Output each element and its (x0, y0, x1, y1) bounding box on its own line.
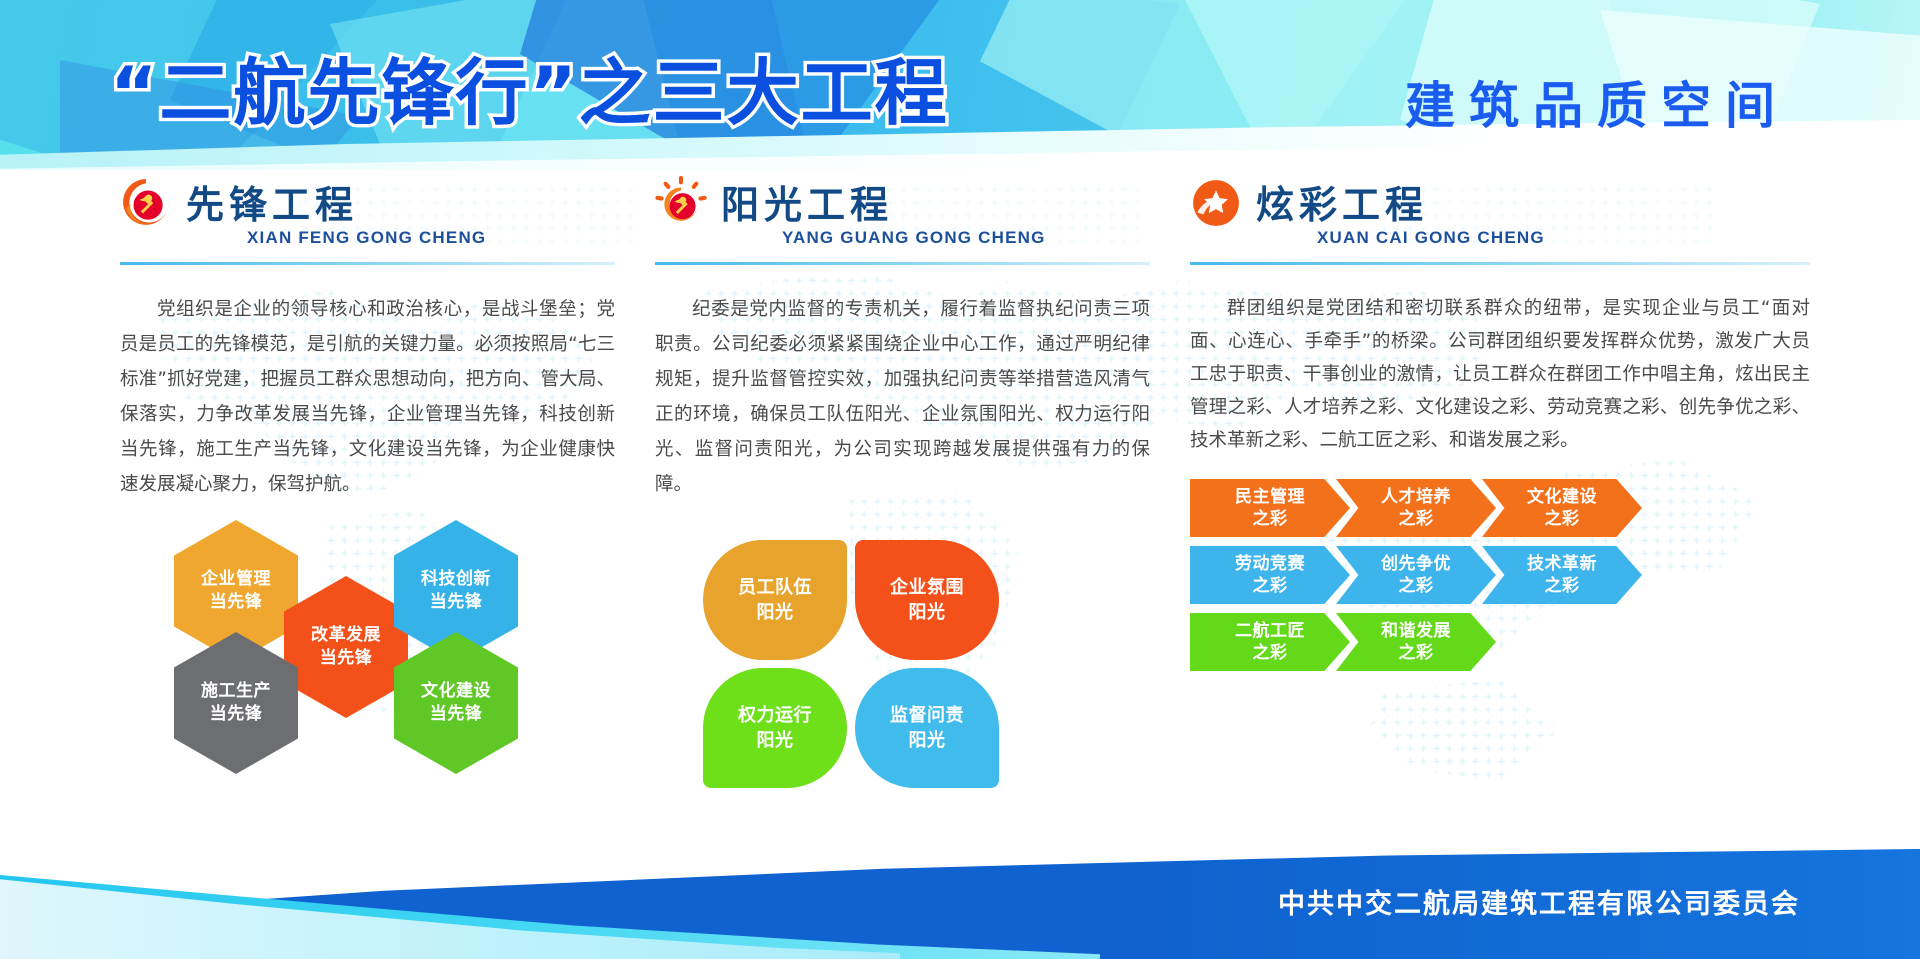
arrow-line-1: 人才培养 (1381, 486, 1451, 508)
hexagon-line-2: 当先锋 (201, 591, 271, 614)
section-xuancai: 炫彩工程 XUAN CAI GONG CHENG 群团组织是党团结和密切联系群众… (1190, 170, 1810, 680)
section-pinyin: XUAN CAI GONG CHENG (1317, 228, 1545, 248)
section-divider (1190, 262, 1810, 265)
arrow-row: 二航工匠 之彩 和谐发展 之彩 (1190, 613, 1810, 671)
section-title: 先锋工程 (186, 174, 358, 229)
arrow-line-2: 之彩 (1381, 642, 1451, 664)
section-header: 先锋工程 XIAN FENG GONG CHENG (120, 170, 615, 278)
party-sun-emblem-icon (655, 176, 707, 228)
section-yangguang: 阳光工程 YANG GUANG GONG CHENG 纪委是党内监督的专责机关，… (655, 170, 1150, 790)
section-xianfeng: 先锋工程 XIAN FENG GONG CHENG 党组织是企业的领导核心和政治… (120, 170, 615, 750)
hexagon-item: 改革发展 当先锋 (284, 576, 408, 718)
petal-cluster: 员工队伍 阳光 企业氛围 阳光 权力运行 阳光 (703, 540, 1003, 790)
arrow-item: 文化建设 之彩 (1482, 479, 1642, 537)
petal-line-2: 阳光 (757, 730, 794, 751)
arrow-item: 民主管理 之彩 (1190, 479, 1350, 537)
arrow-line-1: 文化建设 (1527, 486, 1597, 508)
petal-line-1: 企业氛围 (890, 577, 964, 598)
arrow-line-2: 之彩 (1527, 575, 1597, 597)
hexagon-line-1: 改革发展 (311, 624, 381, 647)
arrow-row: 民主管理 之彩 人才培养 之彩 文化建设 之彩 (1190, 479, 1810, 537)
petal-line-2: 阳光 (909, 730, 946, 751)
poster-board: “二航先锋行”之三大工程 “二航先锋行”之三大工程 建筑品质空间 (0, 0, 1920, 959)
header-banner: “二航先锋行”之三大工程 “二航先锋行”之三大工程 建筑品质空间 (0, 0, 1920, 178)
hexagon-line-1: 文化建设 (421, 680, 491, 703)
section-paragraph: 群团组织是党团结和密切联系群众的纽带，是实现企业与员工“面对面、心连心、手牵手”… (1190, 292, 1810, 457)
hexagon-line-1: 施工生产 (201, 680, 271, 703)
petal-line-2: 阳光 (757, 602, 794, 623)
footer-organization-name: 中共中交二航局建筑工程有限公司委员会 (1278, 882, 1800, 921)
poster-main-title-fill: “二航先锋行”之三大工程 (110, 34, 949, 139)
arrow-line-2: 之彩 (1381, 508, 1451, 530)
petal-item: 员工队伍 阳光 (703, 540, 847, 660)
arrow-line-2: 之彩 (1235, 575, 1305, 597)
arrow-line-2: 之彩 (1235, 508, 1305, 530)
petal-item: 企业氛围 阳光 (855, 540, 999, 660)
petal-line-1: 监督问责 (890, 705, 964, 726)
section-pinyin: XIAN FENG GONG CHENG (247, 228, 486, 248)
section-title: 阳光工程 (721, 174, 893, 229)
arrow-line-1: 和谐发展 (1381, 620, 1451, 642)
arrow-line-1: 民主管理 (1235, 486, 1305, 508)
section-divider (655, 262, 1150, 265)
hexagon-line-2: 当先锋 (311, 647, 381, 670)
petal-line-1: 员工队伍 (738, 577, 812, 598)
hexagon-line-2: 当先锋 (421, 591, 491, 614)
poster-sub-title: 建筑品质空间 (1405, 66, 1789, 138)
petal-item: 监督问责 阳光 (855, 668, 999, 788)
petal-line-2: 阳光 (909, 602, 946, 623)
arrow-line-1: 创先争优 (1381, 553, 1451, 575)
footer-banner: 中共中交二航局建筑工程有限公司委员会 (0, 839, 1920, 959)
arrow-line-1: 技术革新 (1527, 553, 1597, 575)
section-paragraph: 纪委是党内监督的专责机关，履行着监督执纪问责三项职责。公司纪委必须紧紧围绕企业中… (655, 292, 1150, 502)
hexagon-line-1: 科技创新 (421, 568, 491, 591)
section-divider (120, 262, 615, 265)
party-flame-emblem-icon (120, 176, 172, 228)
section-paragraph: 党组织是企业的领导核心和政治核心，是战斗堡垒；党员是员工的先锋模范，是引航的关键… (120, 292, 615, 502)
arrow-line-2: 之彩 (1235, 642, 1305, 664)
hexagon-line-2: 当先锋 (201, 703, 271, 726)
arrow-cluster: 民主管理 之彩 人才培养 之彩 文化建设 之彩 (1190, 479, 1810, 671)
petal-item: 权力运行 阳光 (703, 668, 847, 788)
arrow-line-2: 之彩 (1527, 508, 1597, 530)
arrow-line-1: 二航工匠 (1235, 620, 1305, 642)
hexagon-cluster: 企业管理 当先锋 改革发展 当先锋 科技创新 当先锋 (142, 520, 562, 750)
section-header: 炫彩工程 XUAN CAI GONG CHENG (1190, 170, 1810, 278)
section-pinyin: YANG GUANG GONG CHENG (782, 228, 1046, 248)
arrow-item: 人才培养 之彩 (1336, 479, 1496, 537)
arrow-line-1: 劳动竞赛 (1235, 553, 1305, 575)
arrow-item: 二航工匠 之彩 (1190, 613, 1350, 671)
star-hand-emblem-icon (1190, 176, 1242, 228)
petal-line-1: 权力运行 (738, 705, 812, 726)
hexagon-line-1: 企业管理 (201, 568, 271, 591)
arrow-item: 技术革新 之彩 (1482, 546, 1642, 604)
arrow-item: 创先争优 之彩 (1336, 546, 1496, 604)
arrow-item: 劳动竞赛 之彩 (1190, 546, 1350, 604)
arrow-item: 和谐发展 之彩 (1336, 613, 1496, 671)
section-title: 炫彩工程 (1256, 174, 1428, 229)
arrow-line-2: 之彩 (1381, 575, 1451, 597)
arrow-row: 劳动竞赛 之彩 创先争优 之彩 技术革新 之彩 (1190, 546, 1810, 604)
section-header: 阳光工程 YANG GUANG GONG CHENG (655, 170, 1150, 278)
hexagon-line-2: 当先锋 (421, 703, 491, 726)
